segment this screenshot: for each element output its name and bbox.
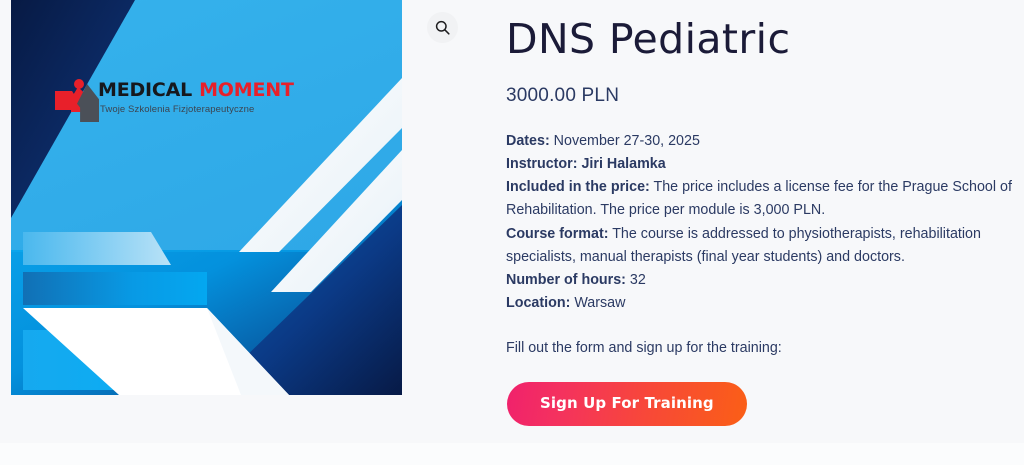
product-page: MEDICALMOMENT Twoje Szkolenia Fizjoterap…: [0, 0, 1024, 465]
detail-line-course-format: Course format: The course is addressed t…: [506, 223, 1014, 269]
detail-line-dates: Dates: November 27-30, 2025: [506, 130, 1014, 153]
detail-label: Instructor: Jiri Halamka: [506, 156, 666, 172]
banner-artwork: [11, 0, 402, 395]
detail-value: Warsaw: [570, 295, 625, 311]
product-image[interactable]: [11, 0, 402, 395]
detail-line-included-in-price: Included in the price: The price include…: [506, 176, 1014, 222]
detail-label: Course format:: [506, 226, 608, 242]
sign-up-for-training-button[interactable]: Sign Up For Training: [507, 382, 747, 426]
detail-label: Dates:: [506, 133, 550, 149]
product-price: 3000.00 PLN: [506, 85, 1014, 107]
product-gallery: MEDICALMOMENT Twoje Szkolenia Fizjoterap…: [11, 0, 402, 395]
detail-label: Included in the price:: [506, 179, 650, 195]
product-details: Dates: November 27-30, 2025 Instructor: …: [506, 130, 1014, 315]
form-prompt: Fill out the form and sign up for the tr…: [506, 337, 1014, 360]
detail-value: November 27-30, 2025: [550, 133, 700, 149]
detail-line-location: Location: Warsaw: [506, 292, 1014, 315]
detail-line-number-of-hours: Number of hours: 32: [506, 269, 1014, 292]
search-icon: [435, 20, 450, 35]
detail-label: Number of hours:: [506, 272, 626, 288]
detail-line-instructor: Instructor: Jiri Halamka: [506, 153, 1014, 176]
product-summary: DNS Pediatric 3000.00 PLN Dates: Novembe…: [506, 0, 1014, 426]
detail-value: 32: [626, 272, 646, 288]
page-title: DNS Pediatric: [506, 17, 1014, 63]
detail-label: Location:: [506, 295, 570, 311]
image-zoom-button[interactable]: [427, 12, 458, 43]
